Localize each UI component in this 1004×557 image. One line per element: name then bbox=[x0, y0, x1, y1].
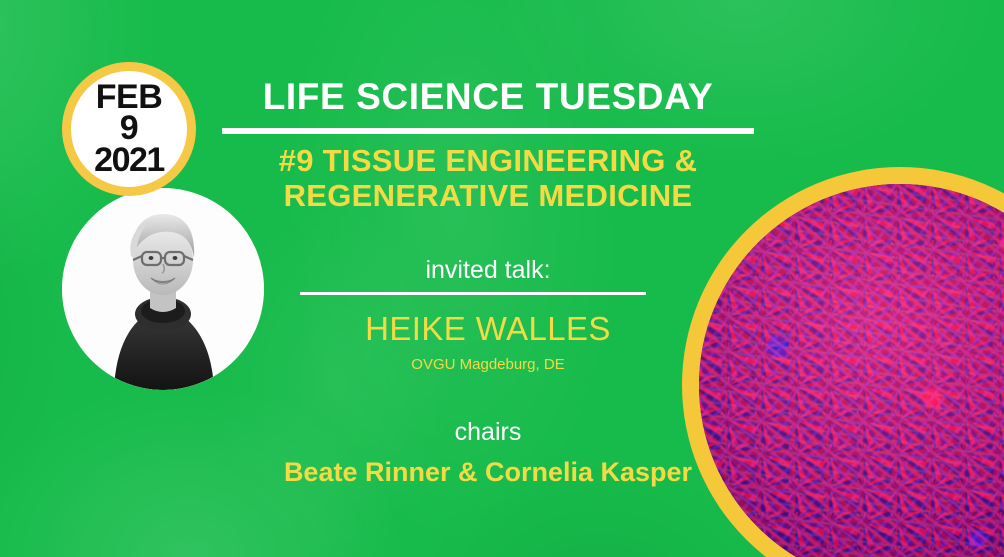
chairs-label: chairs bbox=[200, 418, 776, 447]
speaker-affiliation: OVGU Magdeburg, DE bbox=[200, 356, 776, 373]
title-divider-thick bbox=[222, 128, 754, 134]
poster-text-column: LIFE SCIENCE TUESDAY #9 TISSUE ENGINEERI… bbox=[200, 0, 776, 557]
event-announcement-poster: FEB 9 2021 LIFE SCIENCE TUESDAY #9 TISSU… bbox=[0, 0, 1004, 557]
speaker-divider-thin bbox=[300, 292, 646, 295]
speaker-name: HEIKE WALLES bbox=[200, 310, 776, 348]
date-badge: FEB 9 2021 bbox=[62, 62, 196, 196]
chairs-names: Beate Rinner & Cornelia Kasper bbox=[200, 457, 776, 488]
episode-title-line-2: REGENERATIVE MEDICINE bbox=[200, 179, 776, 214]
episode-title: #9 TISSUE ENGINEERING & REGENERATIVE MED… bbox=[200, 144, 776, 213]
episode-title-line-1: #9 TISSUE ENGINEERING & bbox=[200, 144, 776, 179]
invited-talk-label: invited talk: bbox=[200, 256, 776, 285]
series-title: LIFE SCIENCE TUESDAY bbox=[200, 78, 776, 115]
date-day: 9 bbox=[120, 113, 138, 144]
date-year: 2021 bbox=[94, 145, 164, 176]
